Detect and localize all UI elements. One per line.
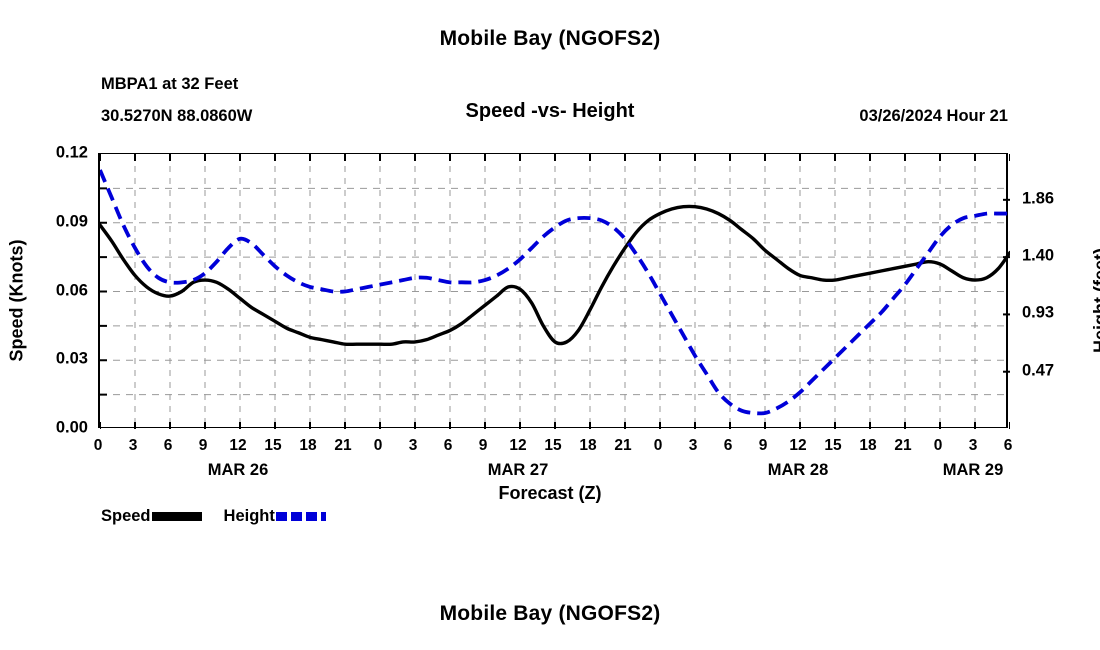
y-axis-left-ticklabel: 0.09 [56, 212, 88, 231]
plot-area [98, 153, 1008, 428]
x-axis-title: Forecast (Z) [0, 484, 1100, 502]
model-run-timestamp: 03/26/2024 Hour 21 [859, 108, 1008, 125]
x-axis-ticklabel: 6 [1004, 437, 1013, 455]
x-axis-ticklabel: 0 [654, 437, 663, 455]
x-axis-ticklabel: 18 [579, 437, 596, 455]
legend-item-speed: Speed [101, 508, 202, 525]
x-axis-ticklabel: 6 [444, 437, 453, 455]
x-axis-ticklabel: 0 [934, 437, 943, 455]
x-axis-day-label: MAR 29 [943, 461, 1004, 480]
x-axis-day-label: MAR 26 [208, 461, 269, 480]
x-axis-ticklabel: 15 [264, 437, 281, 455]
legend-swatch-speed [152, 512, 202, 521]
x-axis-day-label: MAR 28 [768, 461, 829, 480]
x-axis-ticklabel: 18 [859, 437, 876, 455]
x-axis-ticklabel: 3 [409, 437, 418, 455]
x-axis-ticklabel: 3 [689, 437, 698, 455]
x-axis-ticklabel: 21 [894, 437, 911, 455]
x-axis-ticklabel: 9 [759, 437, 768, 455]
x-axis-ticklabel: 12 [509, 437, 526, 455]
legend-label-speed: Speed [101, 508, 151, 525]
y-axis-left-ticklabel: 0.03 [56, 350, 88, 369]
y-axis-right-title: Height (feet) [1091, 221, 1100, 381]
x-axis-ticklabel: 0 [94, 437, 103, 455]
legend-item-height: Height [224, 508, 326, 525]
y-axis-right-ticklabel: 1.86 [1022, 189, 1054, 208]
y-axis-right-ticklabel: 0.93 [1022, 304, 1054, 323]
x-axis-ticklabel: 3 [129, 437, 138, 455]
chart-page: Mobile Bay (NGOFS2) MBPA1 at 32 Feet 30.… [0, 0, 1100, 650]
x-axis-ticklabel: 21 [334, 437, 351, 455]
gridlines [100, 154, 1010, 429]
station-id-label: MBPA1 at 32 Feet [101, 76, 238, 93]
chart-canvas [100, 154, 1010, 429]
x-axis-ticklabel: 3 [969, 437, 978, 455]
x-axis-ticklabel: 18 [299, 437, 316, 455]
footer-title: Mobile Bay (NGOFS2) [0, 603, 1100, 624]
y-axis-left-title: Speed (Knots) [7, 221, 28, 381]
y-axis-left-ticklabel: 0.00 [56, 419, 88, 438]
legend-label-height: Height [224, 508, 275, 525]
x-axis-day-label: MAR 27 [488, 461, 549, 480]
y-axis-left-ticklabel: 0.06 [56, 281, 88, 300]
legend-swatch-height [276, 512, 326, 521]
x-axis-ticklabel: 6 [164, 437, 173, 455]
x-axis-ticklabel: 6 [724, 437, 733, 455]
page-title: Mobile Bay (NGOFS2) [0, 28, 1100, 49]
y-axis-right-ticklabel: 1.40 [1022, 247, 1054, 266]
x-axis-ticklabel: 9 [479, 437, 488, 455]
y-axis-left-ticklabel: 0.12 [56, 144, 88, 163]
x-axis-ticklabel: 12 [789, 437, 806, 455]
x-axis-ticklabel: 15 [824, 437, 841, 455]
x-axis-ticklabel: 9 [199, 437, 208, 455]
y-axis-right-ticklabel: 0.47 [1022, 361, 1054, 380]
chart-legend: Speed Height [101, 508, 326, 525]
x-axis-ticklabel: 0 [374, 437, 383, 455]
x-axis-ticklabel: 15 [544, 437, 561, 455]
x-axis-ticklabel: 21 [614, 437, 631, 455]
x-axis-ticklabel: 12 [229, 437, 246, 455]
